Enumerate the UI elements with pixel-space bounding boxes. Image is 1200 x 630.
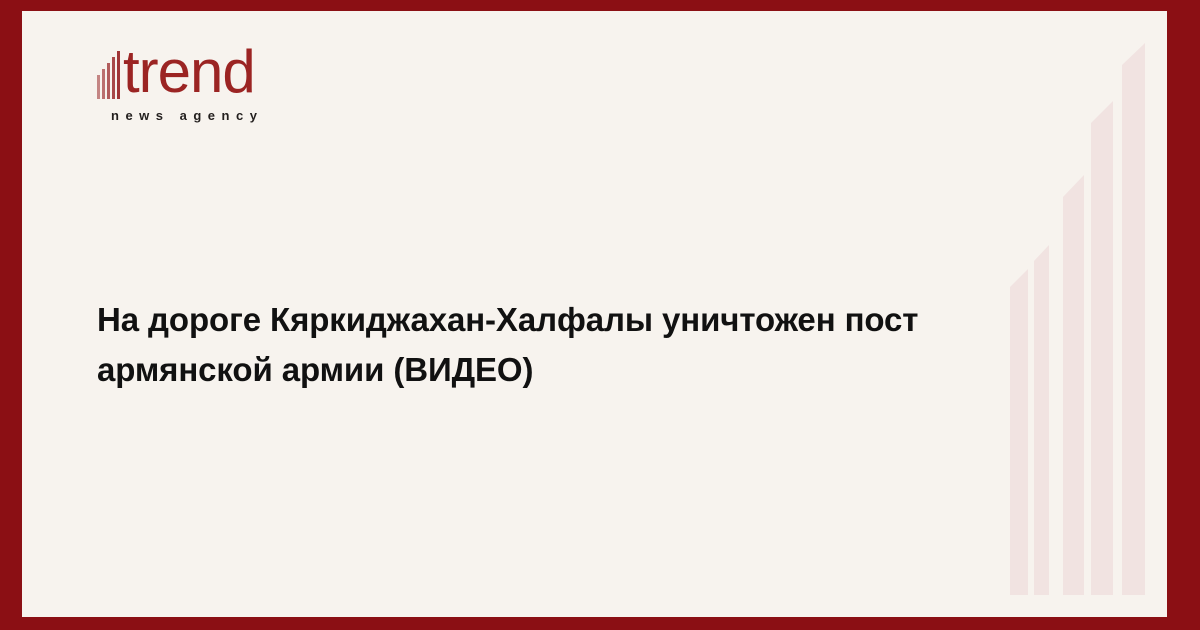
logo-mark: trend — [97, 41, 397, 99]
logo-tagline: news agency — [111, 108, 397, 123]
card-canvas: trend news agency На дороге Кяркиджахан-… — [22, 11, 1167, 617]
logo-bars-icon — [97, 45, 122, 99]
logo-bar-5 — [117, 51, 120, 99]
logo-bar-1 — [97, 75, 100, 99]
watermark-bar-4 — [1091, 101, 1113, 595]
article-share-card: trend news agency На дороге Кяркиджахан-… — [0, 0, 1200, 630]
brand-logo[interactable]: trend news agency — [97, 41, 397, 123]
logo-bar-3 — [107, 63, 110, 99]
logo-bar-4 — [112, 57, 115, 99]
article-headline: На дороге Кяркиджахан-Халфалы уничтожен … — [97, 295, 1082, 395]
logo-wordmark: trend — [123, 45, 255, 99]
watermark-bar-5 — [1122, 43, 1145, 595]
logo-bar-2 — [102, 69, 105, 99]
